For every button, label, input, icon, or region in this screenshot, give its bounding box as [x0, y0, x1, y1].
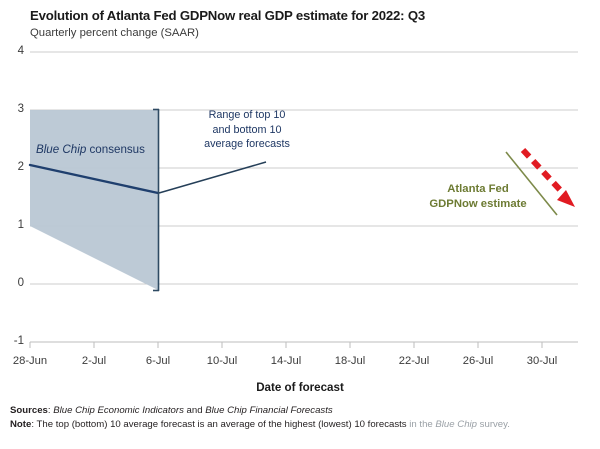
range-callout-line-3: average forecasts [182, 137, 312, 152]
footnotes: Sources: Blue Chip Economic Indicators a… [10, 404, 595, 431]
atlanta-fed-callout-line-1: Atlanta Fed [408, 182, 548, 197]
footnote-note: Note: The top (bottom) 10 average foreca… [10, 418, 595, 432]
range-callout-line-1: Range of top 10 [182, 108, 312, 123]
x-axis-title: Date of forecast [0, 381, 600, 394]
sources-italic-1: Blue Chip Economic Indicators [53, 405, 184, 416]
range-callout-text: Range of top 10 and bottom 10 average fo… [182, 108, 312, 152]
x-tick-label-10-jul: 10-Jul [192, 355, 252, 367]
x-tick-label-14-jul: 14-Jul [256, 355, 316, 367]
blue-chip-rest-text: consensus [86, 143, 145, 156]
x-tick-label-30-jul: 30-Jul [512, 355, 572, 367]
y-tick-label-2: 2 [2, 161, 24, 173]
sources-italic-2: Blue Chip Financial Forecasts [205, 405, 332, 416]
x-tick-label-28-jun: 28-Jun [0, 355, 60, 367]
footnote-sources: Sources: Blue Chip Economic Indicators a… [10, 404, 595, 418]
range-callout-line-2: and bottom 10 [182, 123, 312, 138]
blue-chip-consensus-label: Blue Chip consensus [36, 143, 145, 156]
x-tick-label-22-jul: 22-Jul [384, 355, 444, 367]
range-callout-leader-line [159, 162, 266, 193]
sources-middle-text: and [184, 405, 205, 416]
note-faded-text-1: in the [409, 419, 435, 430]
note-label: Note [10, 419, 31, 430]
y-tick-label-3: 3 [2, 103, 24, 115]
forecast-range-band [30, 110, 158, 290]
note-faded-italic: Blue Chip [435, 419, 477, 430]
x-tick-label-6-jul: 6-Jul [128, 355, 188, 367]
x-tick-label-18-jul: 18-Jul [320, 355, 380, 367]
x-axis-ticks [30, 342, 542, 348]
atlanta-fed-callout-line-2: GDPNow estimate [408, 197, 548, 212]
sources-label: Sources [10, 405, 48, 416]
y-tick-label-1: 1 [2, 219, 24, 231]
x-tick-label-26-jul: 26-Jul [448, 355, 508, 367]
note-faded-text-2: survey. [477, 419, 510, 430]
atlanta-fed-callout-text: Atlanta Fed GDPNow estimate [408, 182, 548, 211]
y-tick-label-4: 4 [2, 45, 24, 57]
chart-figure: Evolution of Atlanta Fed GDPNow real GDP… [0, 0, 600, 449]
x-tick-label-2-jul: 2-Jul [64, 355, 124, 367]
y-tick-label-neg1: -1 [2, 335, 24, 347]
note-text: The top (bottom) 10 average forecast is … [37, 419, 410, 430]
blue-chip-italic-text: Blue Chip [36, 143, 86, 156]
y-tick-label-0: 0 [2, 277, 24, 289]
